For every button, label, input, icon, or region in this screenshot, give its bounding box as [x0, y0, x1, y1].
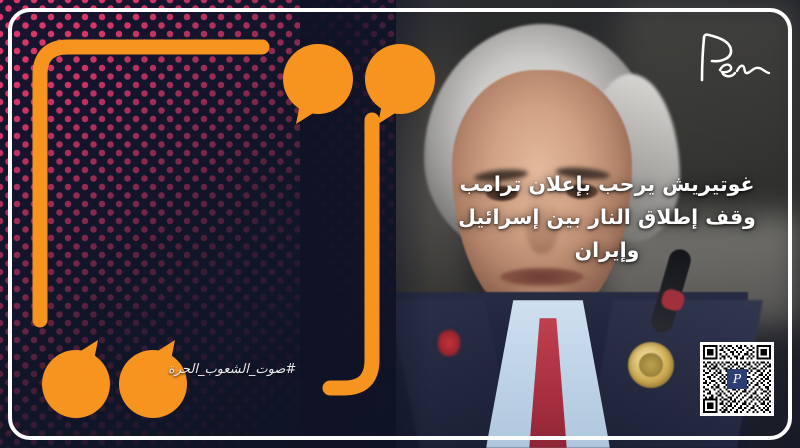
news-card: غوتيريش يرحب بإعلان ترامب وقف إطلاق النا…: [0, 0, 800, 448]
headline-line: غوتيريش يرحب بإعلان ترامب: [444, 168, 770, 201]
subject-mouth: [500, 268, 584, 286]
qr-code[interactable]: P: [700, 342, 774, 416]
headline-line: وقف إطلاق النار بين إسرائيل: [444, 201, 770, 234]
qr-center-logo: P: [727, 369, 747, 389]
lapel-flag-pin-icon: [438, 330, 460, 356]
hashtag-label: #صوت_الشعوب_الحرة: [168, 362, 296, 377]
lapel-emblem-inner: [639, 353, 663, 377]
brand-logo-pen: [690, 26, 774, 88]
page-title: غوتيريش يرحب بإعلان ترامب وقف إطلاق النا…: [444, 168, 770, 268]
headline-line: وإيران: [444, 234, 770, 267]
panel-photo-blend: [300, 0, 430, 448]
